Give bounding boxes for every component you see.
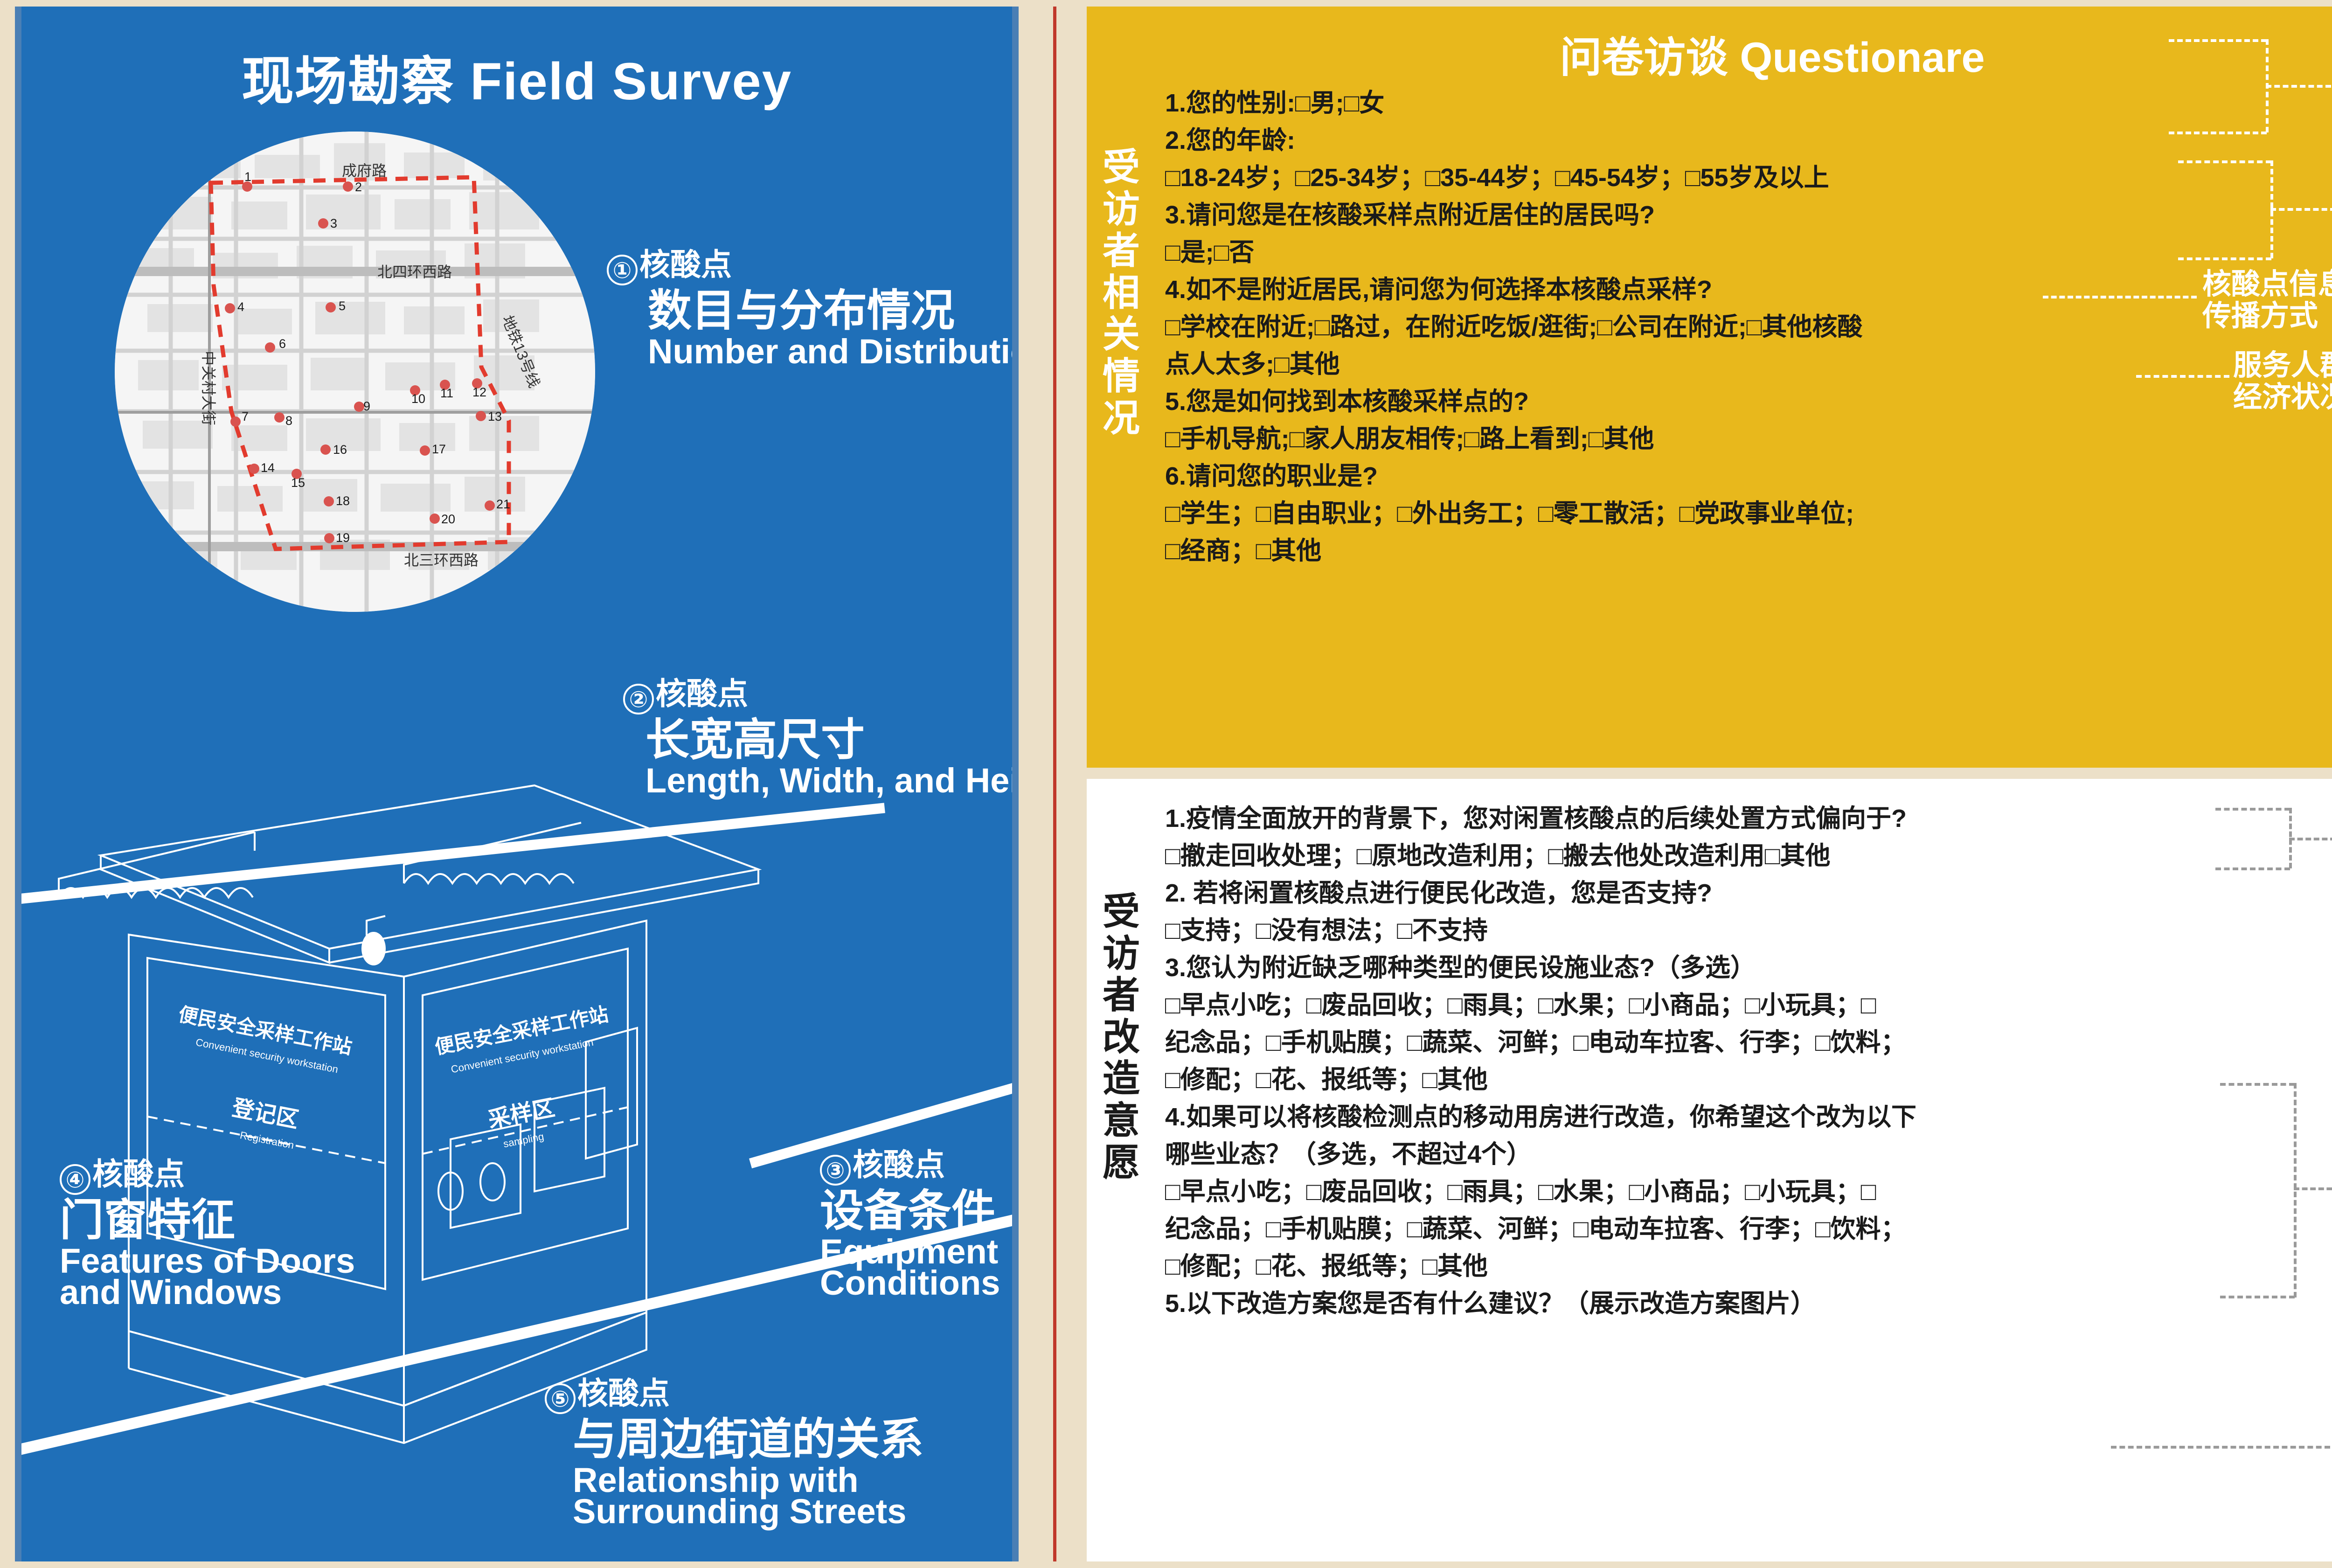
svg-text:19: 19 xyxy=(336,531,350,545)
question-line: □经商；□其他 xyxy=(1165,538,2308,563)
annotation-1-en: Number and Distribution xyxy=(607,334,1019,369)
annotation-3-cn: 设备条件 xyxy=(820,1188,1000,1233)
svg-text:8: 8 xyxy=(285,414,292,428)
annotation-2-en: Length, Width, and Height xyxy=(623,763,1019,798)
page-title: 现场勘察Field Survey xyxy=(21,39,1012,115)
annotation-2-head: 核酸点 xyxy=(656,676,748,711)
svg-text:18: 18 xyxy=(336,494,350,508)
svg-text:7: 7 xyxy=(242,409,249,423)
question-line: 6.请问您的职业是? xyxy=(1165,464,2308,489)
question-line: □学校在附近;□路过，在附近吃饭/逛街;□公司在附近;□其他核酸 xyxy=(1165,314,2308,340)
annotation-1-head: 核酸点 xyxy=(639,247,732,282)
question-line: □撤走回收处理；□原地改造利用；□搬去他处改造利用□其他 xyxy=(1165,843,2331,868)
svg-text:15: 15 xyxy=(291,476,305,490)
svg-text:14: 14 xyxy=(261,461,275,475)
question-line: 4.如果可以将核酸检测点的移动用房进行改造，你希望这个改为以下 xyxy=(1165,1104,2331,1130)
question-line: 2. 若将闲置核酸点进行便民化改造，您是否支持? xyxy=(1165,881,2331,906)
field-survey-panel: 现场勘察Field Survey xyxy=(15,7,1019,1561)
category-tag-info-channel: 核酸点信息 传播方式 xyxy=(2202,269,2332,332)
white-side-label: 受访者改造意愿 xyxy=(1099,891,1144,1183)
kiosk-zone-left-cn: 登记区 xyxy=(229,1096,300,1133)
question-line: 1.您的性别:□男;□女 xyxy=(1165,90,2308,116)
yellow-side-label: 受访者相关情况 xyxy=(1099,146,1144,439)
question-line: 点人太多;□其他 xyxy=(1165,352,2308,377)
svg-text:4: 4 xyxy=(237,300,244,314)
map-road-label: 成府路 xyxy=(342,162,387,179)
annotation-4-number: ④ xyxy=(60,1164,90,1195)
annotation-5-en2: Surrounding Streets xyxy=(545,1494,923,1529)
white-question-list: 1.疫情全面放开的背景下，您对闲置核酸点的后续处置方式偏向于? □撤走回收处理；… xyxy=(1165,806,2331,1328)
map-road-label: 北三环西路 xyxy=(404,552,479,569)
map-road-label: 中关村大街 xyxy=(200,351,217,425)
kiosk-zone-right-cn: 采样区 xyxy=(486,1096,556,1133)
questionnaire-title: 问卷访谈Questionare xyxy=(1087,23,2332,84)
yellow-question-list: 1.您的性别:□男;□女 2.您的年龄: □18-24岁；□25-34岁；□35… xyxy=(1165,90,2308,576)
question-line: 纪念品；□手机贴膜；□蔬菜、河鲜；□电动车拉客、行李；□饮料； xyxy=(1165,1216,2331,1242)
question-line: □手机导航;□家人朋友相传;□路上看到;□其他 xyxy=(1165,426,2308,451)
annotation-2-cn: 长宽高尺寸 xyxy=(623,717,1019,762)
svg-text:20: 20 xyxy=(441,512,455,526)
annotation-4-head: 核酸点 xyxy=(92,1157,185,1191)
question-line: 3.请问您是在核酸采样点附近居住的居民吗? xyxy=(1165,202,2308,228)
question-line: 2.您的年龄: xyxy=(1165,128,2308,153)
questionnaire-column: 问卷访谈Questionare 受访者相关情况 1.您的性别:□男;□女 2.您… xyxy=(1087,7,2332,1561)
annotation-3-number: ③ xyxy=(820,1155,851,1186)
annotation-5-head: 核酸点 xyxy=(577,1376,670,1410)
question-line: 哪些业态？（多选，不超过4个） xyxy=(1165,1142,2331,1167)
question-line: 纪念品；□手机贴膜；□蔬菜、河鲜；□电动车拉客、行李；□饮料； xyxy=(1165,1030,2331,1055)
poster-page: 现场勘察Field Survey xyxy=(0,0,2332,1568)
questionnaire-title-en: Questionare xyxy=(1740,35,1985,81)
svg-text:5: 5 xyxy=(339,299,346,313)
question-line: 1.疫情全面放开的背景下，您对闲置核酸点的后续处置方式偏向于? xyxy=(1165,806,2331,831)
question-line: □18-24岁；□25-34岁；□35-44岁；□45-54岁；□55岁及以上 xyxy=(1165,165,2308,190)
category-tag-economy: 服务人群 经济状况 xyxy=(2233,350,2332,413)
question-line: □支持；□没有想法；□不支持 xyxy=(1165,918,2331,943)
annotation-4: ④核酸点 门窗特征 Features of Doors and Windows xyxy=(60,1159,355,1310)
question-line: □是;□否 xyxy=(1165,240,2308,265)
annotation-5: ⑤核酸点 与周边街道的关系 Relationship with Surround… xyxy=(545,1378,923,1529)
panel-title-en: Field Survey xyxy=(470,52,792,111)
annotation-3-head: 核酸点 xyxy=(853,1147,945,1182)
svg-text:16: 16 xyxy=(333,443,347,457)
annotation-5-cn: 与周边街道的关系 xyxy=(545,1417,923,1462)
annotation-3: ③核酸点 设备条件 Equipment Conditions xyxy=(820,1149,1000,1301)
annotation-5-number: ⑤ xyxy=(545,1383,576,1414)
svg-text:12: 12 xyxy=(472,385,486,399)
annotation-3-en2: Conditions xyxy=(820,1265,1000,1300)
svg-text:11: 11 xyxy=(440,386,453,400)
kiosk-zone-left-en: Registration xyxy=(239,1129,295,1151)
question-line: 5.您是如何找到本核酸采样点的? xyxy=(1165,389,2308,414)
question-line: □早点小吃；□废品回收；□雨具；□水果；□小商品；□小玩具；□ xyxy=(1165,992,2331,1018)
map-road-label: 北四环西路 xyxy=(377,264,452,280)
svg-text:3: 3 xyxy=(330,216,337,230)
svg-text:13: 13 xyxy=(488,409,502,423)
question-line: □修配；□花、报纸等；□其他 xyxy=(1165,1254,2331,1279)
panel-title-cn: 现场勘察 xyxy=(242,52,454,111)
svg-text:17: 17 xyxy=(432,442,446,456)
question-line: □修配；□花、报纸等；□其他 xyxy=(1165,1067,2331,1092)
svg-text:6: 6 xyxy=(279,337,286,351)
annotation-2-number: ② xyxy=(623,684,654,715)
svg-text:1: 1 xyxy=(244,170,251,184)
gutter-divider xyxy=(1053,7,1056,1561)
questionnaire-title-cn: 问卷访谈 xyxy=(1560,35,1728,81)
annotation-2: ②核酸点 长宽高尺寸 Length, Width, and Height xyxy=(623,678,1019,798)
question-line: 5.以下改造方案您是否有什么建议？（展示改造方案图片） xyxy=(1165,1291,2331,1316)
svg-text:2: 2 xyxy=(355,180,362,194)
annotation-1: ①核酸点 数目与分布情况 Number and Distribution xyxy=(607,249,1019,369)
question-line: □早点小吃；□废品回收；□雨具；□水果；□小商品；□小玩具；□ xyxy=(1165,1179,2331,1204)
svg-text:21: 21 xyxy=(496,497,510,511)
svg-text:9: 9 xyxy=(363,399,370,413)
survey-map[interactable]: 123 456 789 101112 131415 161718 192021 … xyxy=(115,132,595,612)
question-line: □学生；□自由职业；□外出务工；□零工散活；□党政事业单位; xyxy=(1165,501,2308,526)
annotation-1-number: ① xyxy=(607,255,638,285)
annotation-4-cn: 门窗特征 xyxy=(60,1198,355,1242)
questionnaire-card-renovation: 受访者改造意愿 1.疫情全面放开的背景下，您对闲置核酸点的后续处置方式偏向于? … xyxy=(1087,779,2332,1561)
annotation-1-cn: 数目与分布情况 xyxy=(607,288,1019,333)
questionnaire-card-basic: 问卷访谈Questionare 受访者相关情况 1.您的性别:□男;□女 2.您… xyxy=(1087,7,2332,768)
svg-text:10: 10 xyxy=(411,392,425,406)
question-line: 3.您认为附近缺乏哪种类型的便民设施业态?（多选） xyxy=(1165,955,2331,980)
